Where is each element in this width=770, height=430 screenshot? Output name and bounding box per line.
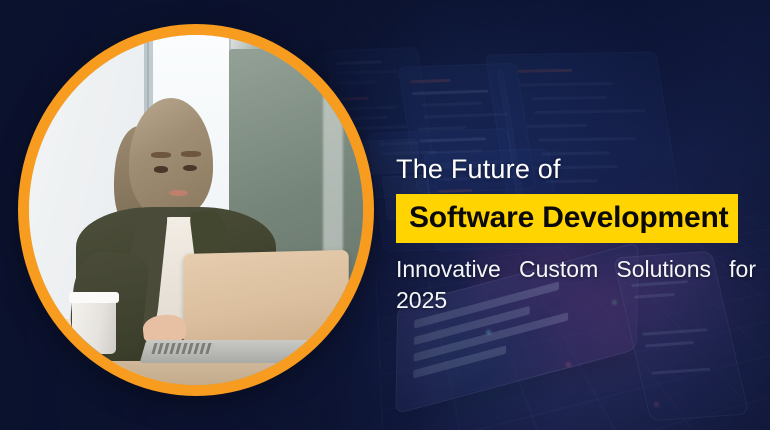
subheadline-line-2: 2025 [396, 285, 756, 316]
photo-eyebrow-left [151, 152, 171, 158]
headline-highlight: Software Development [396, 194, 738, 243]
photo-laptop-keyboard [151, 343, 214, 354]
subheadline: Innovative Custom Solutions for 2025 [396, 254, 756, 316]
photo-person-at-laptop [29, 35, 363, 385]
photo-eyebrow-right [181, 151, 201, 157]
subheadline-line-1: Innovative Custom Solutions for [396, 254, 756, 285]
photo-lips [169, 190, 187, 197]
hero-banner: The Future of Software Development Innov… [0, 0, 770, 430]
headline-block: The Future of Software Development Innov… [396, 152, 756, 316]
photo-eye-left [154, 166, 168, 173]
headline-pre: The Future of [396, 152, 756, 186]
headline-highlight-wrap: Software Development [396, 194, 756, 243]
avatar [29, 35, 363, 385]
photo-coffee-cup [72, 294, 115, 354]
photo-coffee-cup-lid [69, 292, 119, 303]
photo-laptop-screen [184, 250, 349, 349]
photo-ring-border [18, 24, 374, 396]
photo-hair [129, 98, 213, 217]
